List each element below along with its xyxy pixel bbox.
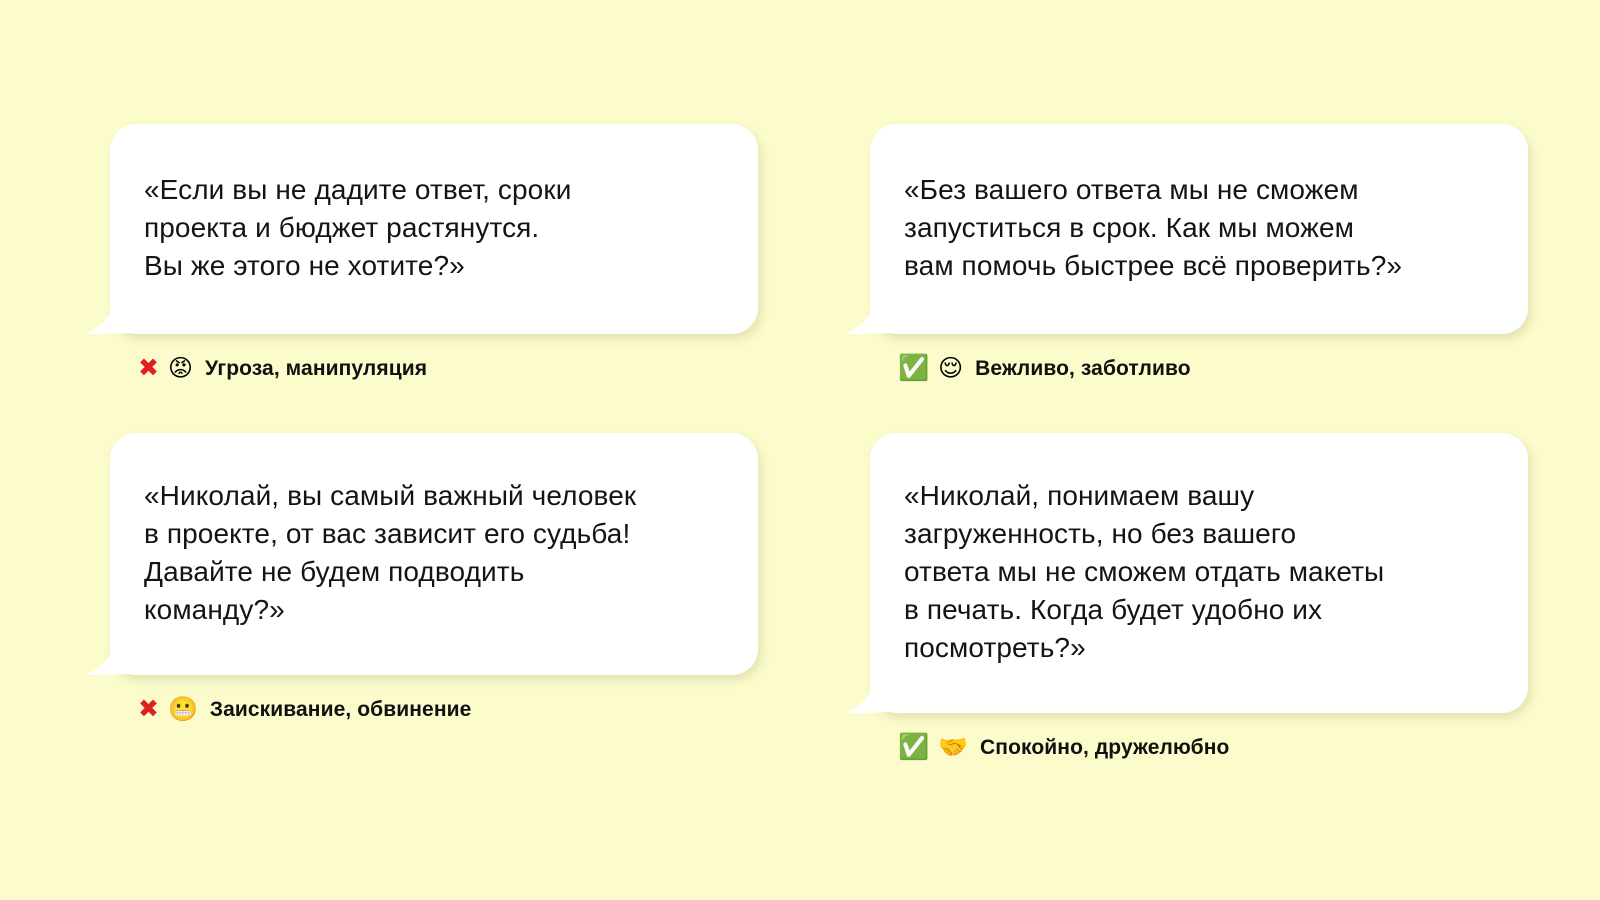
- speech-bubble: «Николай, вы самый важный человек в прое…: [110, 433, 758, 675]
- message-card-bad-flattery: «Николай, вы самый важный человек в прое…: [78, 433, 758, 760]
- verdict-caption: ✖ 😬 Заискивание, обвинение: [78, 697, 758, 722]
- cross-mark-icon: ✖: [138, 356, 159, 381]
- grimacing-face-icon: 😬: [168, 698, 198, 722]
- verdict-caption: ✖ 😡 Угроза, манипуляция: [78, 356, 758, 381]
- verdict-caption: ✅ 🤝 Спокойно, дружелюбно: [838, 735, 1528, 760]
- relieved-face-icon: 😌: [938, 357, 963, 381]
- bubble-tail-icon: [843, 283, 891, 335]
- angry-face-icon: 😡: [168, 357, 193, 381]
- bubble-grid: «Если вы не дадите ответ, сроки проекта …: [78, 124, 1528, 760]
- check-mark-button-icon: ✅: [898, 735, 929, 760]
- verdict-label: Спокойно, дружелюбно: [980, 736, 1229, 760]
- bubble-tail-icon: [83, 624, 131, 676]
- message-card-bad-threat: «Если вы не дадите ответ, сроки проекта …: [78, 124, 758, 381]
- bubble-message: «Без вашего ответа мы не сможем запустит…: [904, 171, 1402, 285]
- speech-bubble: «Если вы не дадите ответ, сроки проекта …: [110, 124, 758, 334]
- message-card-good-polite: «Без вашего ответа мы не сможем запустит…: [838, 124, 1528, 381]
- speech-bubble: «Без вашего ответа мы не сможем запустит…: [870, 124, 1528, 334]
- bubble-wrap: «Николай, понимаем вашу загруженность, н…: [838, 433, 1528, 713]
- handshake-icon: 🤝: [938, 736, 968, 760]
- bubble-message: «Николай, понимаем вашу загруженность, н…: [904, 477, 1384, 667]
- bubble-message: «Николай, вы самый важный человек в прое…: [144, 477, 636, 629]
- bubble-wrap: «Николай, вы самый важный человек в прое…: [78, 433, 758, 675]
- message-card-good-calm: «Николай, понимаем вашу загруженность, н…: [838, 433, 1528, 760]
- speech-bubble: «Николай, понимаем вашу загруженность, н…: [870, 433, 1528, 713]
- bubble-wrap: «Если вы не дадите ответ, сроки проекта …: [78, 124, 758, 334]
- verdict-caption: ✅ 😌 Вежливо, заботливо: [838, 356, 1528, 381]
- bubble-tail-icon: [83, 283, 131, 335]
- bubble-message: «Если вы не дадите ответ, сроки проекта …: [144, 171, 571, 285]
- check-mark-button-icon: ✅: [898, 356, 929, 381]
- cross-mark-icon: ✖: [138, 697, 159, 722]
- verdict-label: Угроза, манипуляция: [205, 357, 427, 381]
- verdict-label: Вежливо, заботливо: [975, 357, 1190, 381]
- bubble-tail-icon: [843, 662, 891, 714]
- comparison-board: «Если вы не дадите ответ, сроки проекта …: [0, 0, 1600, 900]
- verdict-label: Заискивание, обвинение: [210, 698, 472, 722]
- bubble-wrap: «Без вашего ответа мы не сможем запустит…: [838, 124, 1528, 334]
